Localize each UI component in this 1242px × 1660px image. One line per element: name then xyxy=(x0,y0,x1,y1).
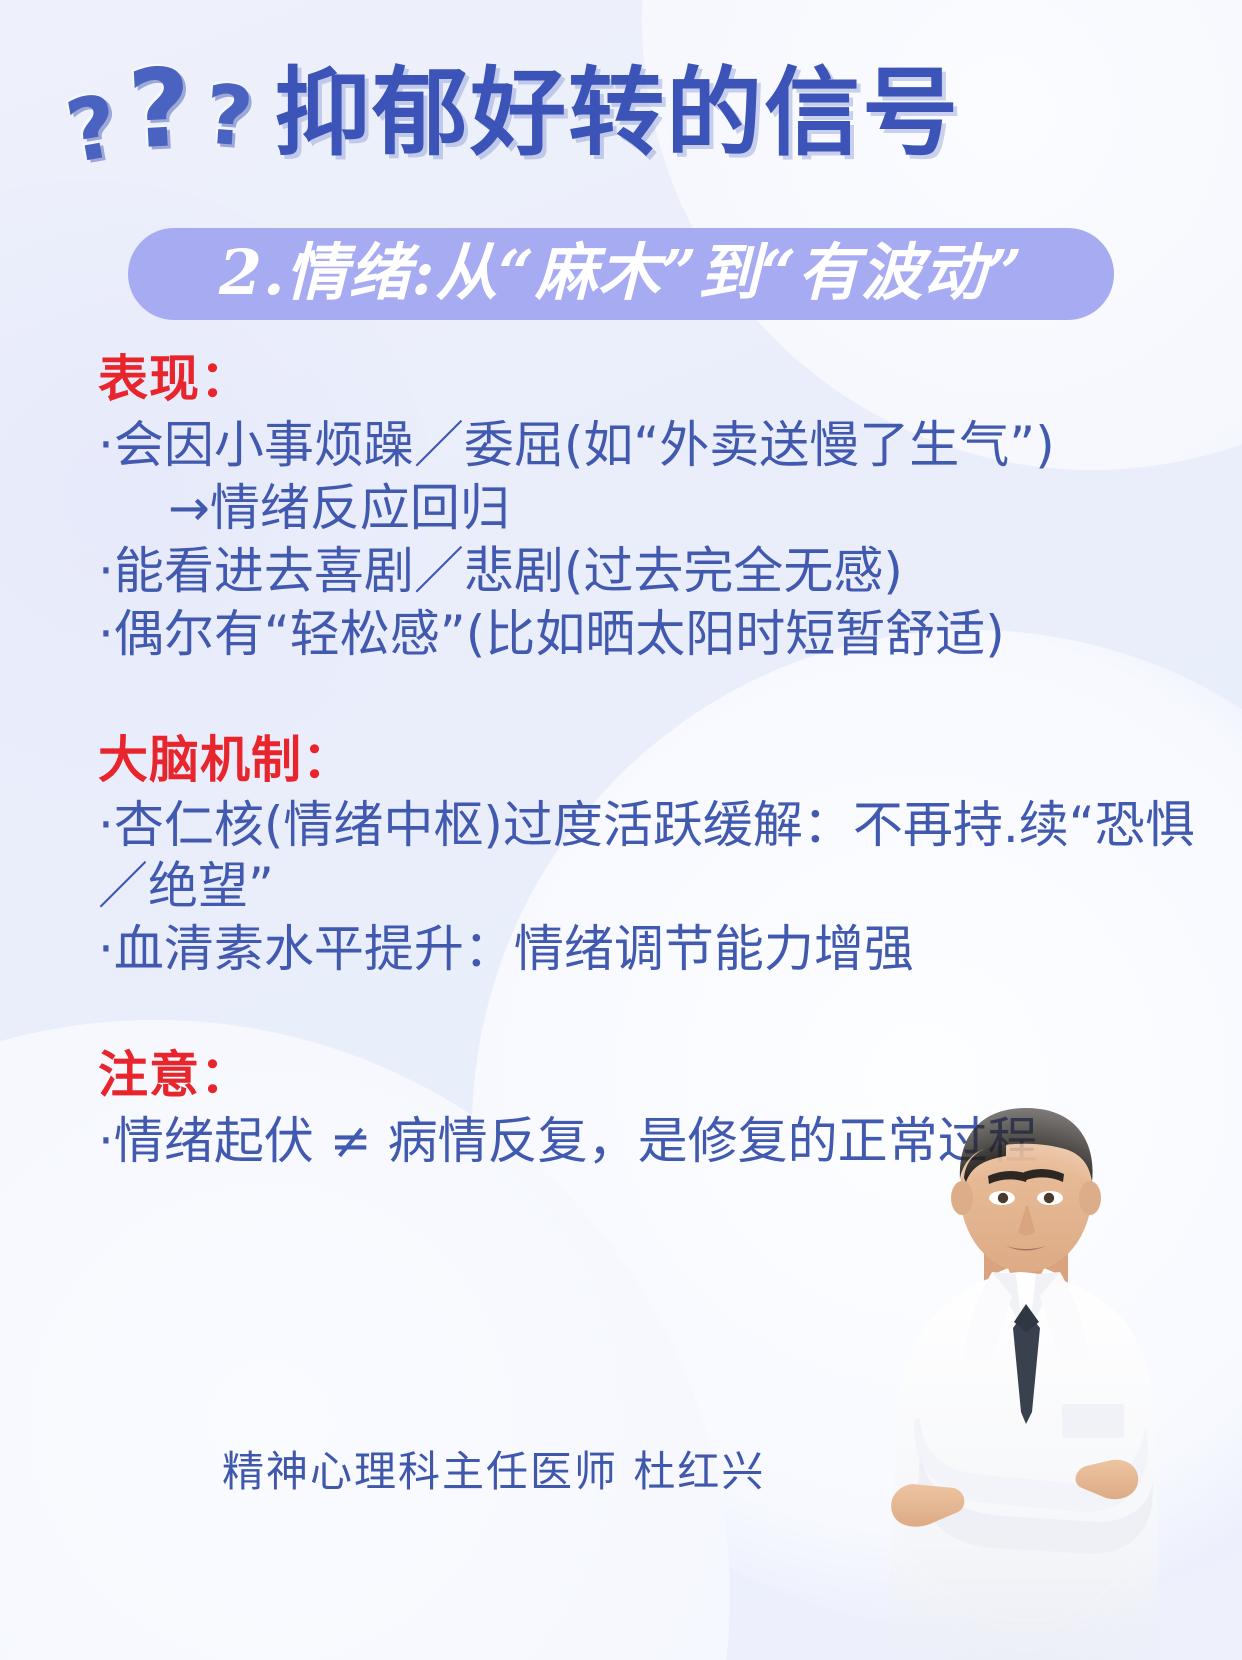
section-zhuyi: 注意： ·情绪起伏 ≠ 病情反复，是修复的正常过程 xyxy=(0,1044,1242,1172)
page-title: 抑郁好转的信号 xyxy=(274,65,960,161)
content-body: 表现： ·会因小事烦躁／委屈(如“外卖送慢了生气”) →情绪反应回归 ·能看进去… xyxy=(0,348,1242,1174)
bullet-line: ·情绪起伏 ≠ 病情反复，是修复的正常过程 xyxy=(0,1111,1242,1172)
bullet-line: →情绪反应回归 xyxy=(0,478,1242,539)
question-marks-group: ? ? ? xyxy=(76,48,248,178)
poster-header: ? ? ? 抑郁好转的信号 xyxy=(0,38,1242,188)
question-mark-icon: ? xyxy=(126,55,194,166)
bullet-line: ·杏仁核(情绪中枢)过度活跃缓解：不再持.续“恐惧／绝望” xyxy=(0,795,1242,917)
doctor-credit: 精神心理科主任医师 杜红兴 xyxy=(0,1438,1242,1499)
section-spacer xyxy=(0,667,1242,729)
poster-root: ? ? ? 抑郁好转的信号 2.情绪:从“麻木”到“有波动” 表现： ·会因小事… xyxy=(0,0,1242,1660)
bullet-line: ·能看进去喜剧／悲剧(过去完全无感) xyxy=(0,541,1242,602)
section-heading: 注意： xyxy=(98,1044,1242,1107)
question-mark-icon: ? xyxy=(60,83,124,176)
section-heading: 表现： xyxy=(98,348,1242,411)
section-danao-jizhi: 大脑机制： ·杏仁核(情绪中枢)过度活跃缓解：不再持.续“恐惧／绝望” ·血清素… xyxy=(0,729,1242,981)
section-banner-label: 2.情绪:从“麻木”到“有波动” xyxy=(219,242,1023,304)
bullet-line: ·会因小事烦躁／委屈(如“外卖送慢了生气”) xyxy=(0,415,1242,476)
section-heading: 大脑机制： xyxy=(98,729,1242,792)
section-spacer xyxy=(0,982,1242,1044)
section-banner: 2.情绪:从“麻木”到“有波动” xyxy=(128,228,1114,320)
bullet-line: ·偶尔有“轻松感”(比如晒太阳时短暂舒适) xyxy=(0,604,1242,665)
section-biaoxian: 表现： ·会因小事烦躁／委屈(如“外卖送慢了生气”) →情绪反应回归 ·能看进去… xyxy=(0,348,1242,665)
question-mark-icon: ? xyxy=(202,75,255,160)
bullet-line: ·血清素水平提升：情绪调节能力增强 xyxy=(0,919,1242,980)
